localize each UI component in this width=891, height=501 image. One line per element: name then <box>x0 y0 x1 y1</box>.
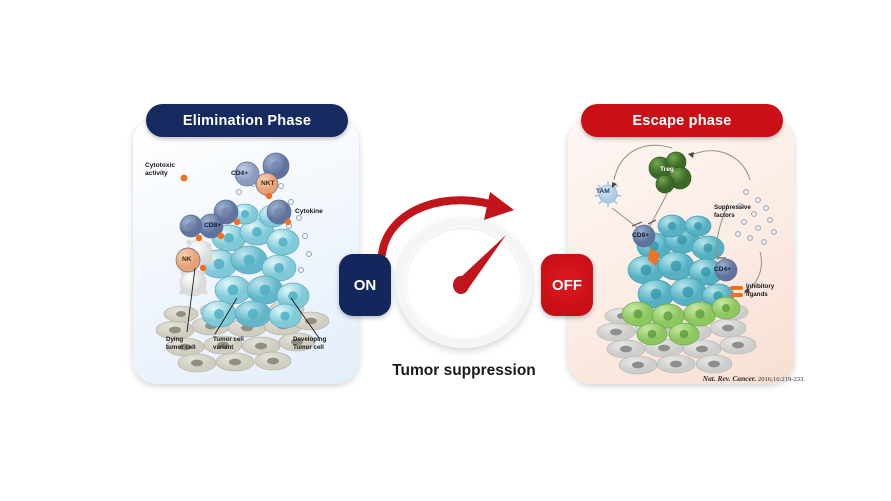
gauge-caption: Tumor suppression <box>386 362 542 380</box>
label-cd4: CD4+ <box>714 266 731 274</box>
cytotoxic-activity-dot-icon <box>180 174 188 182</box>
label-developing-tumor-cell: Developing Tumor cell <box>293 336 349 351</box>
label-cytokine: Cytokine <box>295 208 323 216</box>
label-tumor-cell-variant: Tumor cell variant <box>213 336 261 351</box>
label-tam: TAM <box>596 188 610 196</box>
label-cytotoxic-activity: Cytotoxic activity <box>145 162 197 178</box>
citation-journal: Nat. Rev. Cancer. <box>703 374 756 383</box>
panel-elimination-phase: Elimination Phase <box>133 118 359 384</box>
toggle-off-button[interactable]: OFF <box>541 254 593 316</box>
label-suppressive-factors: Suppressive factors <box>714 204 762 219</box>
toggle-on-button[interactable]: ON <box>339 254 391 316</box>
label-cd8: CD8+ <box>204 222 221 230</box>
label-dying-tumor-cell: Dying tumor cell <box>166 336 212 351</box>
citation-volume: 2016;16:219-233. <box>758 376 805 383</box>
label-nkt: NKT <box>261 180 275 188</box>
label-nk: NK <box>182 256 192 264</box>
panel-escape-phase: Escape phase <box>568 118 794 384</box>
label-cd8: CD8+ <box>632 232 649 240</box>
label-treg: Treg <box>660 166 674 174</box>
label-cd4: CD4+ <box>231 170 248 178</box>
gauge-direction-arrow <box>372 186 542 266</box>
figure-canvas: Elimination Phase <box>0 0 891 501</box>
citation: Nat. Rev. Cancer. 2016;16:219-233. <box>655 374 805 383</box>
label-inhibitory-ligands: Inhibitory ligands <box>746 283 790 298</box>
escape-phase-artwork <box>568 118 794 384</box>
